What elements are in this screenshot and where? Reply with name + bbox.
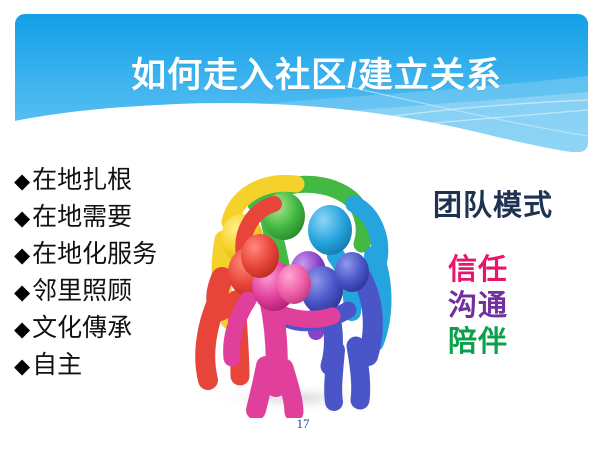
- figure-red-inner: [241, 234, 279, 278]
- diamond-bullet-icon: ◆: [14, 356, 30, 377]
- teamwork-illustration: [178, 160, 404, 418]
- diamond-bullet-icon: ◆: [14, 319, 30, 340]
- list-item-label: 自主: [32, 352, 82, 380]
- page-number: 17: [288, 416, 318, 432]
- list-item-label: 在地需要: [32, 204, 132, 232]
- list-item[interactable]: ◆ 邻里照顾: [14, 274, 204, 310]
- keyword-communication: 沟通: [448, 288, 568, 324]
- diamond-bullet-icon: ◆: [14, 245, 30, 266]
- team-mode-heading: 团队模式: [433, 182, 553, 224]
- list-item[interactable]: ◆ 自主: [14, 348, 204, 384]
- list-item-label: 在地化服务: [32, 241, 157, 269]
- bullet-list: ◆ 在地扎根 ◆ 在地需要 ◆ 在地化服务 ◆ 邻里照顾 ◆ 文化傳承 ◆ 自主: [14, 163, 204, 385]
- diamond-bullet-icon: ◆: [14, 282, 30, 303]
- diamond-bullet-icon: ◆: [14, 171, 30, 192]
- keyword-companionship: 陪伴: [448, 324, 568, 360]
- keyword-stack: 信任 沟通 陪伴: [448, 252, 568, 360]
- slide-canvas: 如何走入社区/建立关系 ◆ 在地扎根 ◆ 在地需要 ◆ 在地化服务 ◆ 邻里照顾…: [0, 0, 600, 450]
- teamwork-circle-figures-image: [178, 160, 404, 418]
- keyword-trust: 信任: [448, 252, 568, 288]
- list-item[interactable]: ◆ 在地扎根: [14, 163, 204, 199]
- list-item-label: 邻里照顾: [32, 278, 132, 306]
- list-item[interactable]: ◆ 在地需要: [14, 200, 204, 236]
- diamond-bullet-icon: ◆: [14, 208, 30, 229]
- list-item[interactable]: ◆ 在地化服务: [14, 237, 204, 273]
- list-item-label: 文化傳承: [32, 315, 132, 343]
- list-item[interactable]: ◆ 文化傳承: [14, 311, 204, 347]
- page-title: 如何走入社区/建立关系: [30, 52, 600, 100]
- list-item-label: 在地扎根: [32, 167, 132, 195]
- figure-pink-small: [277, 264, 311, 304]
